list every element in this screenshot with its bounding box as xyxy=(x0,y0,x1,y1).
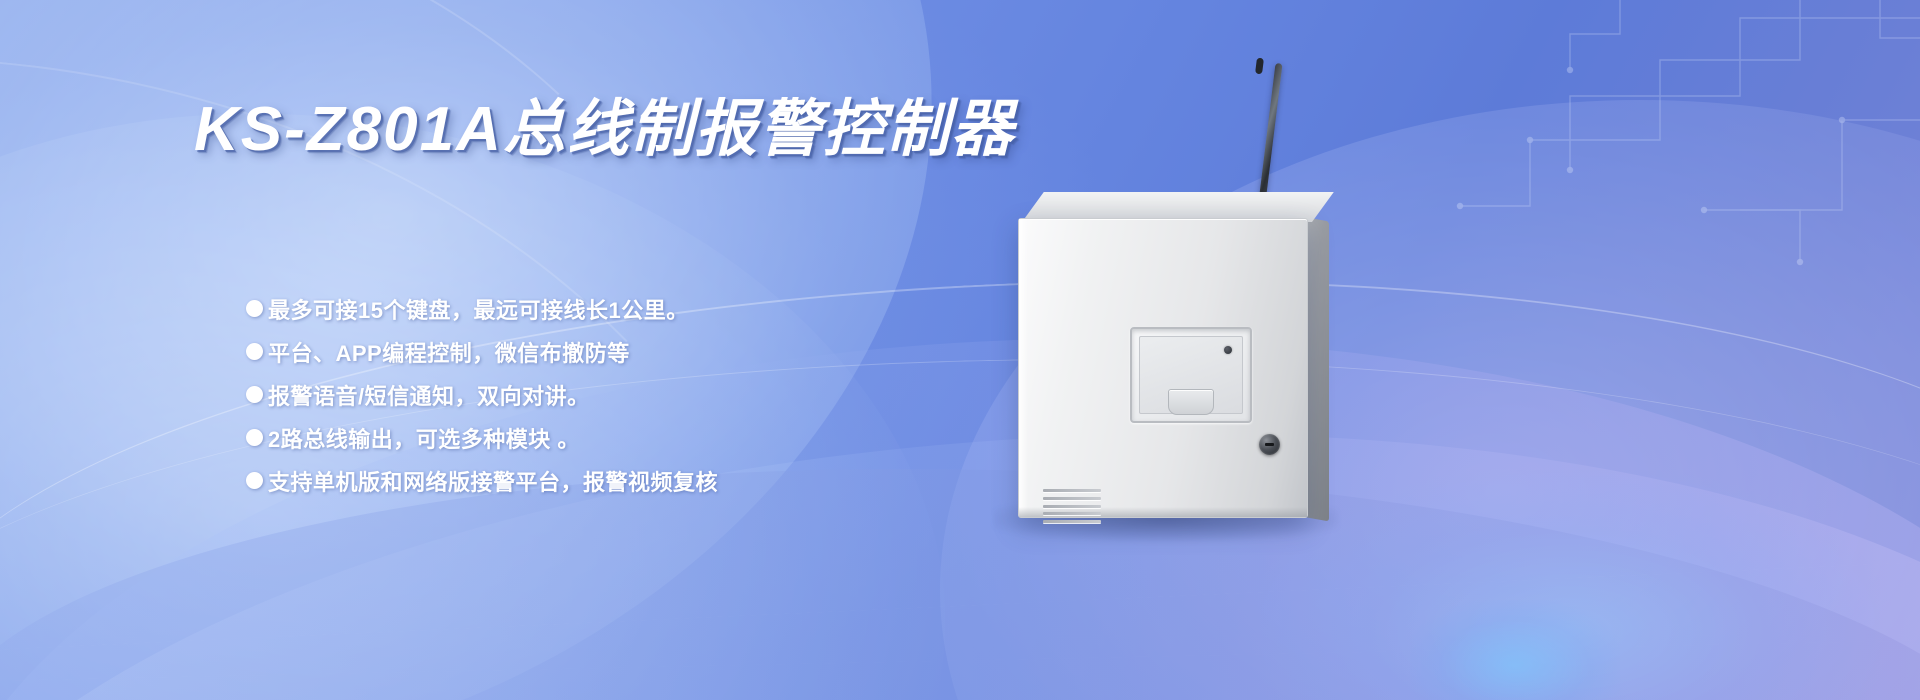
vent-slot xyxy=(1043,520,1101,523)
keypad-window xyxy=(1130,327,1252,423)
bullet-icon xyxy=(246,343,263,360)
product-banner: KS-Z801A总线制报警控制器 最多可接15个键盘，最远可接线长1公里。 平台… xyxy=(0,0,1920,700)
vent-slot xyxy=(1043,512,1101,515)
vent-slot xyxy=(1043,489,1101,492)
keypad-window-inner xyxy=(1139,336,1243,414)
door-lock-icon xyxy=(1259,434,1280,455)
list-item: 支持单机版和网络版接警平台，报警视频复核 xyxy=(246,459,1006,502)
feature-text: 平台、APP编程控制，微信布撤防等 xyxy=(268,336,630,368)
list-item: 最多可接15个键盘，最远可接线长1公里。 xyxy=(246,287,1006,330)
bullet-icon xyxy=(246,300,263,317)
feature-text: 最多可接15个键盘，最远可接线长1公里。 xyxy=(268,293,689,325)
feature-text: 2路总线输出，可选多种模块 。 xyxy=(268,422,580,454)
product-image-alarm-control-panel xyxy=(1000,60,1470,580)
page-title: KS-Z801A总线制报警控制器 xyxy=(194,78,1015,168)
lock-keyhole xyxy=(1265,443,1274,446)
bullet-icon xyxy=(246,472,263,489)
list-item: 报警语音/短信通知，双向对讲。 xyxy=(246,373,1006,416)
ventilation-louvres xyxy=(1043,489,1101,523)
enclosure-front-door xyxy=(1018,218,1308,518)
bullet-icon xyxy=(246,386,263,403)
door-left-highlight xyxy=(1019,219,1028,517)
feature-list: 最多可接15个键盘，最远可接线长1公里。 平台、APP编程控制，微信布撤防等 报… xyxy=(246,287,1006,502)
vent-slot xyxy=(1043,505,1101,508)
window-handle xyxy=(1168,389,1214,415)
status-led-icon xyxy=(1224,346,1232,354)
list-item: 平台、APP编程控制，微信布撤防等 xyxy=(246,330,1006,373)
vent-slot xyxy=(1043,497,1101,500)
antenna-tip xyxy=(1255,58,1264,75)
feature-text: 报警语音/短信通知，双向对讲。 xyxy=(268,379,590,411)
bullet-icon xyxy=(246,429,263,446)
glow-spot xyxy=(1410,600,1620,700)
feature-text: 支持单机版和网络版接警平台，报警视频复核 xyxy=(268,465,718,497)
list-item: 2路总线输出，可选多种模块 。 xyxy=(246,416,1006,459)
